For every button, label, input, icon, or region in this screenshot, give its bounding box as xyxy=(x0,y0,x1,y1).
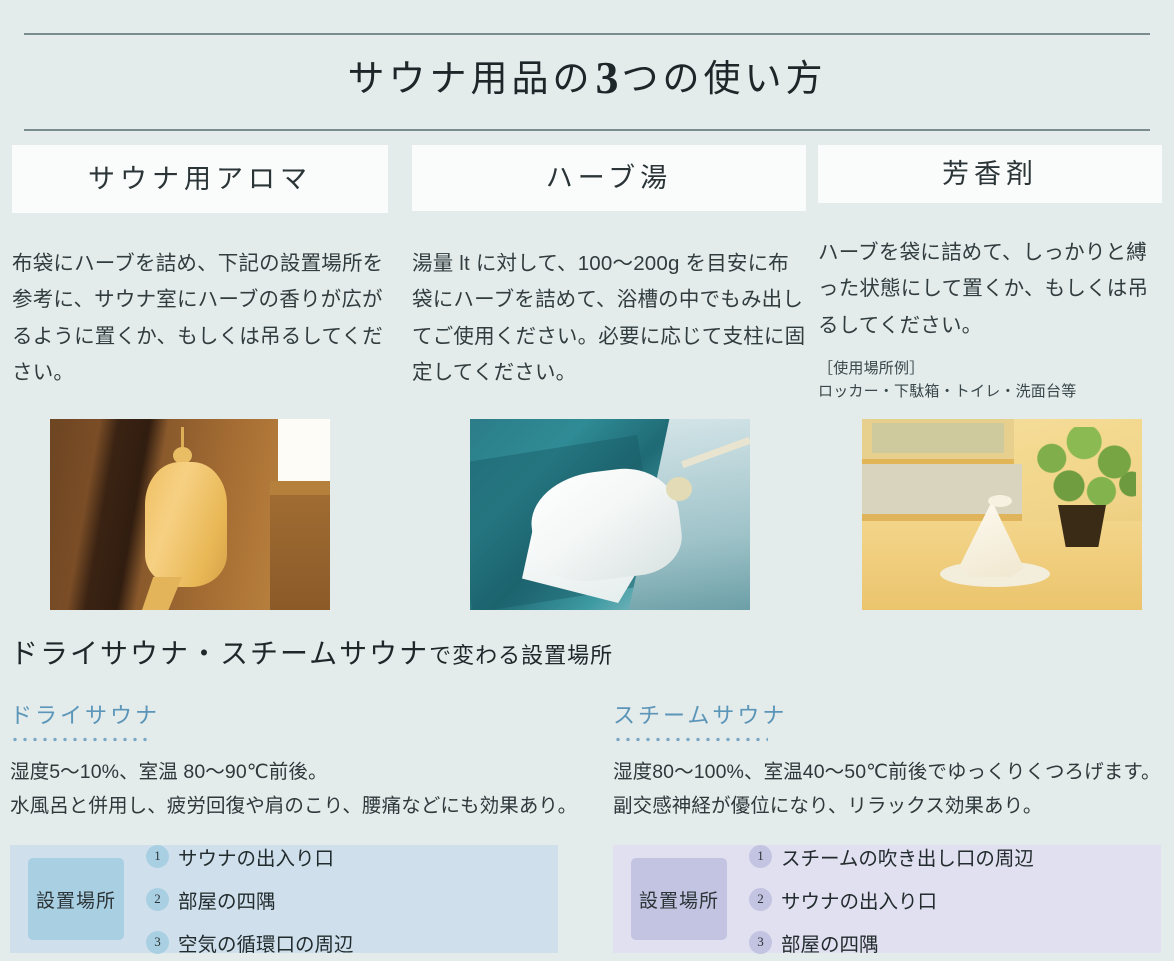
column-sauna-aroma: サウナ用アロマ 布袋にハーブを詰め、下記の設置場所を参考に、サウナ室にハーブの香… xyxy=(12,145,388,392)
photo-sauna-aroma xyxy=(50,419,330,610)
mirror-frame xyxy=(862,419,1014,464)
photo-air-freshener-scene xyxy=(862,419,1142,610)
placement-item: 1 スチームの吹き出し口の周辺 xyxy=(749,842,1161,871)
column-body-air-freshener: ハーブを袋に詰めて、しっかりと縛った状態にして置くか、もしくは吊るしてください。 xyxy=(818,235,1162,344)
badge-number: 2 xyxy=(749,888,772,911)
title-rule-bottom xyxy=(24,129,1150,131)
section-heading: ドライサウナ・スチームサウナで変わる設置場所 xyxy=(10,632,613,672)
placement-item: 1 サウナの出入り口 xyxy=(146,842,378,871)
dry-sauna-desc-line2: 水風呂と併用し、疲労回復や肩のこり、腰痛などにも効果あり。 xyxy=(10,790,570,824)
badge-number: 3 xyxy=(749,931,772,954)
placement-box-dry-sauna: 設置場所 1 サウナの出入り口 2 部屋の四隅 3 空気の循環口の周辺 xyxy=(10,845,558,953)
column-herb-bath: ハーブ湯 湯量 lt に対して、100〜200g を目安に布袋にハーブを詰めて、… xyxy=(412,145,806,392)
subsection-desc-steam-sauna: 湿度80〜100%、室温40〜50℃前後でゆっくりくつろげます。 副交感神経が優… xyxy=(613,756,1168,824)
mirror-glass xyxy=(872,423,1004,453)
washstand-wall xyxy=(862,464,1022,521)
badge-number: 1 xyxy=(146,845,169,868)
herb-bag-yellow xyxy=(145,462,227,587)
photo-air-freshener xyxy=(862,419,1142,610)
placement-item: 2 サウナの出入り口 xyxy=(749,885,989,914)
column-heading-herb-bath: ハーブ湯 xyxy=(412,145,806,211)
placement-items-steam: 1 スチームの吹き出し口の周辺 2 サウナの出入り口 3 部屋の四隅 xyxy=(727,842,1161,957)
badge-number: 1 xyxy=(749,845,772,868)
placement-label-dry: 設置場所 xyxy=(28,858,124,940)
placement-item-label: サウナの出入り口 xyxy=(781,885,937,914)
usage-examples-note: ［使用場所例］ ロッカー・下駄箱・トイレ・洗面台等 xyxy=(818,358,1162,403)
placement-item-label: サウナの出入り口 xyxy=(178,842,334,871)
usage-examples-list: ロッカー・下駄箱・トイレ・洗面台等 xyxy=(818,381,1162,404)
placement-item: 3 部屋の四隅 xyxy=(749,928,989,957)
sauna-usage-infographic: サウナ用品の3つの使い方 サウナ用アロマ 布袋にハーブを詰め、下記の設置場所を参… xyxy=(0,0,1174,961)
steam-sauna-desc-line1: 湿度80〜100%、室温40〜50℃前後でゆっくりくつろげます。 xyxy=(613,756,1168,790)
placement-item: 2 部屋の四隅 xyxy=(146,885,378,914)
section-heading-rest: で変わる設置場所 xyxy=(429,643,613,668)
subsection-desc-dry-sauna: 湿度5〜10%、室温 80〜90℃前後。 水風呂と併用し、疲労回復や肩のこり、腰… xyxy=(10,756,570,824)
title-rule-top xyxy=(24,33,1150,35)
placement-box-steam-sauna: 設置場所 1 スチームの吹き出し口の周辺 2 サウナの出入り口 3 部屋の四隅 xyxy=(613,845,1161,953)
bag-knot xyxy=(666,477,692,501)
dotted-underline-steam xyxy=(613,737,768,742)
usage-examples-label: ［使用場所例］ xyxy=(818,358,1162,381)
steam-sauna-desc-line2: 副交感神経が優位になり、リラックス効果あり。 xyxy=(613,790,1168,824)
sauna-window xyxy=(278,419,330,481)
title-suffix: つの使い方 xyxy=(622,59,827,100)
placement-item-label: 部屋の四隅 xyxy=(178,885,276,914)
subsection-dry-sauna: ドライサウナ 湿度5〜10%、室温 80〜90℃前後。 水風呂と併用し、疲労回復… xyxy=(10,698,570,824)
badge-number: 3 xyxy=(146,931,169,954)
photo-herb-bath xyxy=(470,419,750,610)
placement-item-label: 空気の循環口の周辺 xyxy=(178,928,354,957)
subsection-title-dry-sauna: ドライサウナ xyxy=(10,698,570,730)
column-heading-air-freshener: 芳香剤 xyxy=(818,145,1162,203)
title-prefix: サウナ用品の xyxy=(348,59,594,100)
placement-item: 3 空気の循環口の周辺 xyxy=(146,928,558,957)
sauna-bench xyxy=(270,495,330,610)
column-heading-sauna-aroma: サウナ用アロマ xyxy=(12,145,388,213)
placement-item-label: 部屋の四隅 xyxy=(781,928,879,957)
title-block: サウナ用品の3つの使い方 xyxy=(0,0,1174,135)
sauna-ledge xyxy=(270,481,330,495)
page-title: サウナ用品の3つの使い方 xyxy=(0,48,1174,104)
subsection-title-steam-sauna: スチームサウナ xyxy=(613,698,1168,730)
dry-sauna-desc-line1: 湿度5〜10%、室温 80〜90℃前後。 xyxy=(10,756,570,790)
photo-herb-bath-scene xyxy=(470,419,750,610)
column-body-herb-bath: 湯量 lt に対して、100〜200g を目安に布袋にハーブを詰めて、浴槽の中で… xyxy=(412,246,806,392)
dotted-underline-dry xyxy=(10,737,150,742)
column-body-sauna-aroma: 布袋にハーブを詰め、下記の設置場所を参考に、サウナ室にハーブの香りが広がるように… xyxy=(12,246,388,392)
title-number: 3 xyxy=(594,52,622,103)
column-air-freshener: 芳香剤 ハーブを袋に詰めて、しっかりと縛った状態にして置くか、もしくは吊るしてく… xyxy=(818,145,1162,403)
subsection-steam-sauna: スチームサウナ 湿度80〜100%、室温40〜50℃前後でゆっくりくつろげます。… xyxy=(613,698,1168,824)
placement-label-steam: 設置場所 xyxy=(631,858,727,940)
section-heading-strong: ドライサウナ・スチームサウナ xyxy=(10,639,429,670)
badge-number: 2 xyxy=(146,888,169,911)
bag-tie xyxy=(988,495,1012,507)
placement-item-label: スチームの吹き出し口の周辺 xyxy=(781,842,1034,871)
photo-sauna-aroma-scene xyxy=(50,419,330,610)
placement-items-dry: 1 サウナの出入り口 2 部屋の四隅 3 空気の循環口の周辺 xyxy=(124,842,558,957)
plant-pot xyxy=(1058,505,1106,547)
bag-tail xyxy=(142,577,182,610)
